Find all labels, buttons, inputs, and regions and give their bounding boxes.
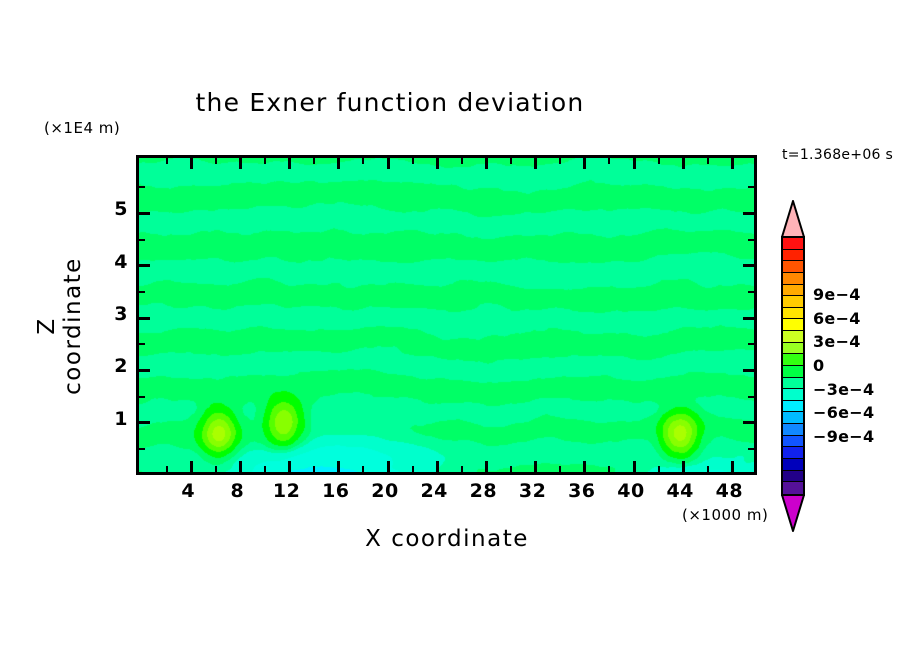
colorbar-cell bbox=[783, 482, 803, 494]
x-tick-top-major bbox=[534, 158, 537, 169]
x-tick-label: 24 bbox=[409, 480, 459, 502]
x-tick-label: 32 bbox=[508, 480, 558, 502]
x-tick-top-minor bbox=[313, 158, 315, 164]
x-tick-major bbox=[682, 461, 685, 472]
y-tick-right-minor bbox=[748, 396, 754, 398]
colorbar-tick-label: 0 bbox=[813, 356, 824, 375]
colorbar-cell bbox=[783, 308, 803, 320]
colorbar-tick-label: 6e−4 bbox=[813, 309, 861, 328]
x-tick-top-minor bbox=[707, 158, 709, 164]
x-tick-top-minor bbox=[264, 158, 266, 164]
y-tick-label: 5 bbox=[88, 198, 128, 220]
colorbar-cell bbox=[783, 285, 803, 297]
y-tick-right-minor bbox=[748, 291, 754, 293]
x-tick-minor bbox=[510, 466, 512, 472]
x-tick-label: 44 bbox=[655, 480, 705, 502]
x-tick-top-minor bbox=[559, 158, 561, 164]
x-tick-minor bbox=[461, 466, 463, 472]
x-tick-label: 40 bbox=[606, 480, 656, 502]
colorbar-cell bbox=[783, 343, 803, 355]
colorbar-tick-label: 9e−4 bbox=[813, 285, 861, 304]
colorbar-cell bbox=[783, 447, 803, 459]
colorbar-cell bbox=[783, 378, 803, 390]
colorbar-cell bbox=[783, 424, 803, 436]
colorbar-cell bbox=[783, 273, 803, 285]
x-tick-minor bbox=[658, 466, 660, 472]
y-tick-right-minor bbox=[748, 448, 754, 450]
x-tick-label: 8 bbox=[212, 480, 262, 502]
x-tick-minor bbox=[313, 466, 315, 472]
x-tick-major bbox=[485, 461, 488, 472]
contour-field bbox=[139, 158, 754, 472]
x-tick-label: 12 bbox=[262, 480, 312, 502]
x-tick-major bbox=[387, 461, 390, 472]
colorbar-cell bbox=[783, 366, 803, 378]
y-tick-right-major bbox=[743, 317, 754, 320]
x-tick-major bbox=[633, 461, 636, 472]
y-tick-right-major bbox=[743, 369, 754, 372]
x-tick-label: 4 bbox=[163, 480, 213, 502]
x-tick-label: 36 bbox=[557, 480, 607, 502]
x-tick-major bbox=[436, 461, 439, 472]
y-tick-major bbox=[139, 317, 150, 320]
x-axis-unit-label: (×1000 m) bbox=[682, 506, 768, 524]
x-tick-major bbox=[190, 461, 193, 472]
y-tick-label: 4 bbox=[88, 251, 128, 273]
x-tick-top-minor bbox=[166, 158, 168, 164]
contour-plot-area[interactable] bbox=[136, 155, 757, 475]
x-tick-top-minor bbox=[215, 158, 217, 164]
y-tick-minor bbox=[139, 448, 145, 450]
colorbar-cell bbox=[783, 250, 803, 262]
x-tick-minor bbox=[412, 466, 414, 472]
y-tick-minor bbox=[139, 186, 145, 188]
colorbar-cell bbox=[783, 401, 803, 413]
y-tick-major bbox=[139, 264, 150, 267]
x-tick-minor bbox=[559, 466, 561, 472]
colorbar-tick-label: −6e−4 bbox=[813, 403, 874, 422]
colorbar-under-arrow-icon bbox=[781, 494, 805, 532]
x-tick-major bbox=[239, 461, 242, 472]
x-tick-top-minor bbox=[412, 158, 414, 164]
colorbar-cell bbox=[783, 238, 803, 250]
colorbar-cell bbox=[783, 331, 803, 343]
x-tick-minor bbox=[166, 466, 168, 472]
y-tick-minor bbox=[139, 239, 145, 241]
x-tick-top-major bbox=[485, 158, 488, 169]
x-tick-major bbox=[583, 461, 586, 472]
colorbar-cell bbox=[783, 436, 803, 448]
colorbar-cell bbox=[783, 389, 803, 401]
colorbar-cell bbox=[783, 296, 803, 308]
x-tick-top-minor bbox=[362, 158, 364, 164]
y-tick-label: 2 bbox=[88, 355, 128, 377]
y-tick-right-major bbox=[743, 212, 754, 215]
colorbar-cell bbox=[783, 319, 803, 331]
x-tick-top-major bbox=[387, 158, 390, 169]
y-tick-major bbox=[139, 369, 150, 372]
colorbar-cell bbox=[783, 459, 803, 471]
y-tick-minor bbox=[139, 396, 145, 398]
x-tick-top-major bbox=[583, 158, 586, 169]
x-tick-top-major bbox=[288, 158, 291, 169]
colorbar-tick-label: −9e−4 bbox=[813, 427, 874, 446]
x-tick-top-major bbox=[633, 158, 636, 169]
y-axis-title: Z coordinate bbox=[34, 246, 86, 406]
colorbar-tick-label: −3e−4 bbox=[813, 380, 874, 399]
x-tick-top-major bbox=[436, 158, 439, 169]
x-tick-top-minor bbox=[658, 158, 660, 164]
x-tick-top-minor bbox=[510, 158, 512, 164]
x-tick-label: 16 bbox=[311, 480, 361, 502]
y-tick-right-major bbox=[743, 421, 754, 424]
y-tick-major bbox=[139, 212, 150, 215]
x-tick-major bbox=[534, 461, 537, 472]
y-tick-major bbox=[139, 421, 150, 424]
y-tick-minor bbox=[139, 291, 145, 293]
y-tick-right-minor bbox=[748, 186, 754, 188]
x-tick-top-major bbox=[239, 158, 242, 169]
y-axis-unit-label: (×1E4 m) bbox=[44, 119, 120, 137]
x-tick-minor bbox=[707, 466, 709, 472]
x-tick-top-major bbox=[190, 158, 193, 169]
x-tick-minor bbox=[264, 466, 266, 472]
y-tick-right-major bbox=[743, 264, 754, 267]
x-tick-minor bbox=[608, 466, 610, 472]
x-tick-label: 28 bbox=[458, 480, 508, 502]
colorbar-cells bbox=[781, 236, 805, 496]
colorbar-over-arrow-icon bbox=[781, 200, 805, 238]
x-tick-label: 20 bbox=[360, 480, 410, 502]
x-tick-minor bbox=[362, 466, 364, 472]
y-tick-label: 1 bbox=[88, 408, 128, 430]
x-axis-title: X coordinate bbox=[0, 526, 894, 552]
x-tick-top-major bbox=[337, 158, 340, 169]
colorbar-cell bbox=[783, 471, 803, 483]
colorbar-cell bbox=[783, 261, 803, 273]
y-tick-minor bbox=[139, 343, 145, 345]
time-annotation: t=1.368e+06 s bbox=[782, 147, 893, 163]
y-tick-right-minor bbox=[748, 239, 754, 241]
colorbar-tick-label: 3e−4 bbox=[813, 332, 861, 351]
x-tick-minor bbox=[215, 466, 217, 472]
x-tick-major bbox=[731, 461, 734, 472]
colorbar-cell bbox=[783, 412, 803, 424]
y-tick-right-minor bbox=[748, 343, 754, 345]
x-tick-top-major bbox=[731, 158, 734, 169]
x-tick-major bbox=[288, 461, 291, 472]
x-tick-major bbox=[337, 461, 340, 472]
y-tick-label: 3 bbox=[88, 303, 128, 325]
page-title: the Exner function deviation bbox=[0, 88, 780, 117]
x-tick-top-minor bbox=[608, 158, 610, 164]
x-tick-top-major bbox=[682, 158, 685, 169]
x-tick-label: 48 bbox=[704, 480, 754, 502]
colorbar-cell bbox=[783, 354, 803, 366]
x-tick-top-minor bbox=[461, 158, 463, 164]
